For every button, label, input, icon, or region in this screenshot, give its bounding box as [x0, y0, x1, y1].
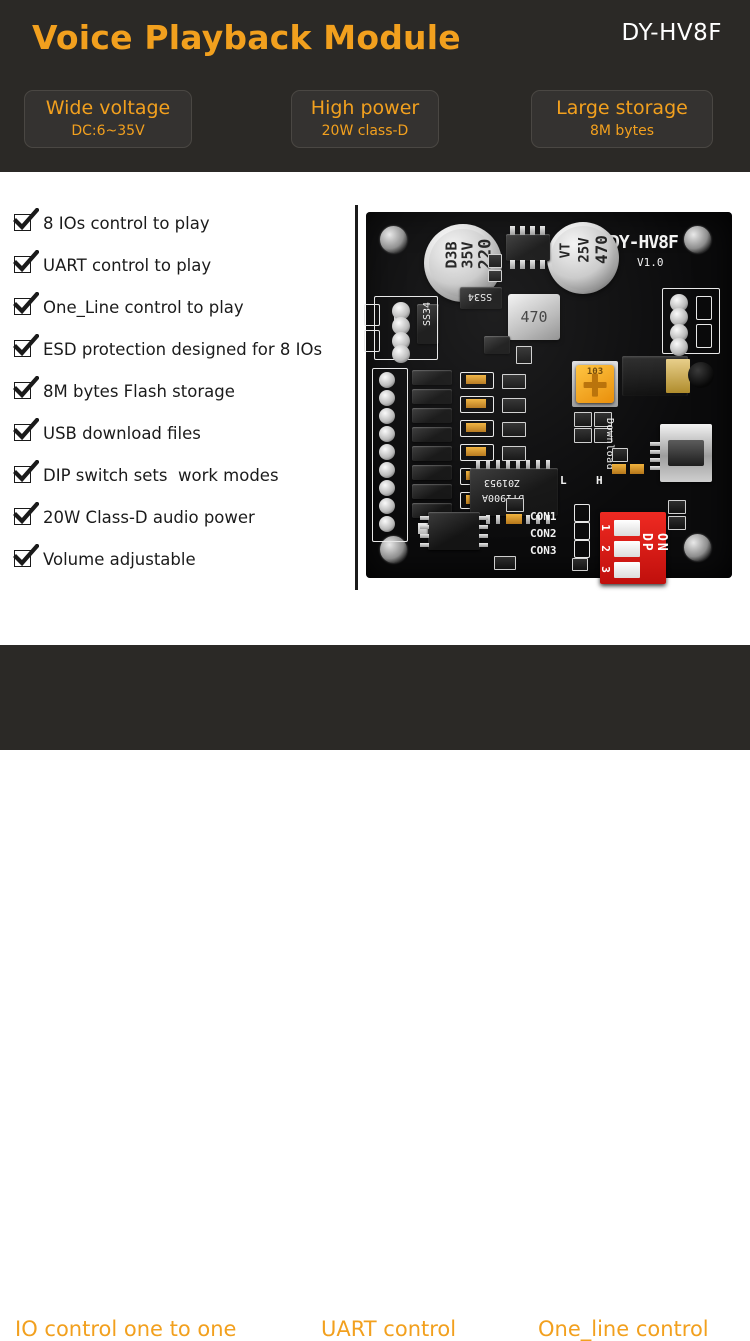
list-item: 20W Class-D audio power: [8, 496, 348, 538]
ic-pin: [496, 460, 500, 469]
terminal-block-outline: [374, 296, 438, 360]
checkmark-icon: [14, 382, 33, 401]
list-item: One_Line control to play: [8, 286, 348, 328]
silkscreen-download: Download: [604, 418, 615, 470]
smd-component: [612, 448, 628, 462]
through-hole-pad: [392, 317, 410, 335]
micro-usb-port[interactable]: [660, 424, 712, 482]
list-item: 8 IOs control to play: [8, 202, 348, 244]
ic-pin: [526, 515, 530, 524]
ic-pin: [420, 516, 429, 520]
esd-diode: [412, 389, 452, 404]
regulator-ic: [506, 234, 550, 261]
con-pad: [574, 504, 590, 522]
silkscreen-version: V1.0: [637, 256, 664, 269]
diode-ss34-left: SS34: [417, 304, 439, 344]
esd-diode: [412, 484, 452, 499]
ic-pin: [420, 543, 429, 547]
main-ic-line2: Z01953: [484, 477, 520, 488]
capacitor-code: D3B: [443, 241, 461, 268]
diode-label: SS34: [468, 291, 492, 302]
sot-transistor: [484, 336, 510, 354]
feature-text: One_Line control to play: [43, 298, 244, 317]
smd-component: [594, 428, 612, 443]
feature-text: 20W Class-D audio power: [43, 508, 255, 527]
smd-resistor: [506, 514, 522, 524]
footer-bar: IO control one to one UART control One_l…: [0, 645, 750, 750]
ic-pin: [496, 515, 500, 524]
io-pad: [379, 498, 395, 514]
through-hole-pad: [670, 294, 688, 312]
list-item: 8M bytes Flash storage: [8, 370, 348, 412]
ic-pin: [516, 515, 520, 524]
pcb-board: DY-HV8F V1.0 220 35V D3B 470 25V VT: [366, 212, 732, 578]
checkmark-icon: [14, 424, 33, 443]
silkscreen-model: DY-HV8F: [609, 232, 678, 253]
ic-pin: [479, 543, 488, 547]
resistor-pad: [460, 468, 494, 485]
badge-title: Large storage: [556, 99, 688, 119]
smd-resistor: [466, 495, 486, 504]
ic-pin: [536, 460, 540, 469]
capacitor-code: VT: [558, 243, 573, 259]
terminal-notch: [696, 296, 712, 320]
main-ic-line1: DY1900A: [482, 492, 524, 503]
badge-subtitle: 8M bytes: [590, 124, 654, 139]
dip-number-2: 2: [599, 545, 612, 552]
list-item: Volume adjustable: [8, 538, 348, 580]
through-hole-pad: [670, 308, 688, 326]
dip-number-1: 1: [599, 524, 612, 531]
footer-item-io-control: IO control one to one: [15, 1317, 236, 1341]
smd-component: [506, 498, 524, 512]
feature-text: 8M bytes Flash storage: [43, 382, 235, 401]
ic-pin: [530, 260, 535, 269]
product-photo: DY-HV8F V1.0 220 35V D3B 470 25V VT: [366, 212, 732, 580]
diode-ss34-right: SS34: [460, 287, 502, 309]
smd-component: [488, 270, 502, 282]
badge-subtitle: 20W class-D: [322, 124, 409, 139]
ic-pin: [486, 515, 490, 524]
io-pad: [379, 516, 395, 532]
footer-item-one-line-control: One_line control: [538, 1317, 709, 1341]
potentiometer-frame: [572, 361, 618, 407]
smd-resistor: [466, 471, 486, 480]
terminal-notch: [696, 324, 712, 348]
feature-text: 8 IOs control to play: [43, 214, 210, 233]
io-pad: [379, 444, 395, 460]
smd-resistor: [630, 464, 644, 474]
ic-pin: [479, 525, 488, 529]
smd-resistor: [394, 308, 405, 328]
silkscreen-con2: CON2: [530, 527, 557, 540]
capacitor-value: 470: [592, 235, 611, 264]
checkmark-icon: [14, 508, 33, 527]
diode-label: SS34: [422, 302, 433, 326]
model-number: DY-HV8F: [622, 20, 722, 46]
smd-resistor: [612, 464, 626, 474]
smd-component: [574, 428, 592, 443]
through-hole-pad: [392, 345, 410, 363]
io-pad: [379, 372, 395, 388]
checkmark-icon: [14, 340, 33, 359]
resistor-pad: [460, 420, 494, 437]
usb-pin: [650, 442, 660, 446]
con-pad: [574, 540, 590, 558]
capacitor-220uf: 220 35V D3B: [424, 224, 502, 302]
smd-component: [668, 500, 686, 514]
esd-diode: [412, 465, 452, 480]
badge-title: High power: [311, 99, 419, 119]
resistor-pad: [460, 396, 494, 413]
mounting-hole: [684, 534, 711, 561]
terminal-notch: [364, 304, 380, 326]
mounting-hole: [380, 536, 407, 563]
audio-jack[interactable]: [622, 356, 688, 396]
checkmark-icon: [14, 550, 33, 569]
badge-title: Wide voltage: [46, 99, 170, 119]
checkmark-icon: [14, 298, 33, 317]
esd-diode: [412, 408, 452, 423]
silkscreen-l: L: [560, 474, 567, 487]
badge-wide-voltage: Wide voltage DC:6~35V: [24, 90, 192, 148]
dip-switch[interactable]: 1 2 3 ON DP: [600, 512, 666, 584]
smd-resistor: [418, 523, 444, 534]
smd-resistor: [466, 399, 486, 408]
ic-pin: [510, 260, 515, 269]
list-item: UART control to play: [8, 244, 348, 286]
vertical-divider: [355, 205, 358, 590]
flash-memory-ic: [428, 512, 480, 550]
usb-pin: [650, 466, 660, 470]
silkscreen-h: H: [596, 474, 603, 487]
badge-subtitle: DC:6~35V: [71, 124, 144, 139]
esd-diode: [412, 503, 452, 518]
smd-component: [502, 470, 526, 485]
page-title: Voice Playback Module: [32, 18, 461, 57]
capacitor-voltage: 35V: [459, 241, 477, 268]
footer-item-uart-control: UART control: [321, 1317, 456, 1341]
io-header-outline: [372, 368, 408, 542]
mounting-hole: [684, 226, 711, 253]
usb-pin: [650, 458, 660, 462]
ic-pin: [540, 226, 545, 235]
dip-switch-1[interactable]: [614, 520, 640, 536]
audio-jack-barrel: [688, 362, 714, 388]
smd-component: [502, 422, 526, 437]
io-pad: [379, 390, 395, 406]
silkscreen-con3: CON3: [530, 544, 557, 557]
badge-large-storage: Large storage 8M bytes: [531, 90, 713, 148]
feature-text: UART control to play: [43, 256, 211, 275]
list-item: DIP switch sets work modes: [8, 454, 348, 496]
ic-pin: [540, 260, 545, 269]
ic-pin: [520, 260, 525, 269]
dip-number-3: 3: [599, 566, 612, 573]
smd-component: [594, 412, 612, 427]
ic-pin: [546, 515, 550, 524]
io-pad: [379, 480, 395, 496]
io-pad: [379, 426, 395, 442]
main-ic-dy1900a: DY1900A Z01953: [470, 468, 558, 516]
smd-component: [502, 374, 526, 389]
smd-component: [502, 494, 526, 509]
io-pad: [379, 408, 395, 424]
dip-switch-2[interactable]: [614, 541, 640, 557]
resistor-pad: [460, 444, 494, 461]
silkscreen-con1: CON1: [530, 510, 557, 523]
ic-pin: [520, 226, 525, 235]
ic-pin: [486, 460, 490, 469]
ic-pin: [530, 226, 535, 235]
feature-text: ESD protection designed for 8 IOs: [43, 340, 322, 359]
through-hole-pad: [392, 302, 410, 320]
capacitor-470uf: 470 25V VT: [547, 222, 619, 294]
potentiometer-code: 103: [576, 367, 614, 377]
smd-component: [516, 346, 532, 364]
through-hole-pad: [670, 324, 688, 342]
resistor-pad: [460, 492, 494, 509]
ic-pin: [420, 534, 429, 538]
smd-component: [502, 446, 526, 461]
smd-resistor: [466, 423, 486, 432]
audio-jack-metal: [666, 359, 690, 393]
ic-pin: [506, 515, 510, 524]
esd-diode: [412, 446, 452, 461]
ic-pin: [516, 460, 520, 469]
smd-component: [572, 558, 588, 571]
checkmark-icon: [14, 466, 33, 485]
through-hole-pad: [392, 332, 410, 350]
feature-text: USB download files: [43, 424, 201, 443]
ic-pin: [510, 226, 515, 235]
inductor-470: 470: [508, 294, 560, 340]
list-item: ESD protection designed for 8 IOs: [8, 328, 348, 370]
smd-resistor: [466, 375, 486, 384]
ic-pin: [476, 515, 480, 524]
esd-diode: [412, 370, 452, 385]
usb-pin: [650, 450, 660, 454]
smd-component: [488, 254, 502, 268]
feature-text: DIP switch sets work modes: [43, 466, 279, 485]
smd-component: [574, 412, 592, 427]
terminal-notch: [364, 330, 380, 352]
io-pad: [379, 462, 395, 478]
capacitor-value: 220: [475, 239, 495, 270]
ic-pin: [506, 460, 510, 469]
smd-component: [502, 398, 526, 413]
checkmark-icon: [14, 256, 33, 275]
ic-pin: [479, 534, 488, 538]
feature-text: Volume adjustable: [43, 550, 196, 569]
ic-pin: [526, 460, 530, 469]
through-hole-pad: [670, 338, 688, 356]
dip-on-label: ON DP: [639, 533, 669, 557]
esd-diode: [412, 427, 452, 442]
smd-component: [494, 556, 516, 570]
ic-pin: [479, 516, 488, 520]
ic-pin: [476, 460, 480, 469]
list-item: USB download files: [8, 412, 348, 454]
mounting-hole: [380, 226, 407, 253]
smd-resistor: [466, 447, 486, 456]
dip-switch-3[interactable]: [614, 562, 640, 578]
resistor-pad: [460, 372, 494, 389]
badge-high-power: High power 20W class-D: [291, 90, 439, 148]
smd-component: [668, 516, 686, 530]
capacitor-voltage: 25V: [577, 237, 593, 262]
ic-pin: [420, 525, 429, 529]
product-infographic: Voice Playback Module DY-HV8F Wide volta…: [0, 0, 750, 750]
ic-pin: [536, 515, 540, 524]
speaker-terminal-outline: [662, 288, 720, 354]
inductor-value: 470: [508, 294, 560, 340]
feature-list: 8 IOs control to play UART control to pl…: [8, 202, 348, 580]
volume-potentiometer[interactable]: 103: [576, 365, 614, 403]
header-bar: Voice Playback Module DY-HV8F Wide volta…: [0, 0, 750, 172]
con-pad: [574, 522, 590, 540]
ic-pin: [546, 460, 550, 469]
checkmark-icon: [14, 214, 33, 233]
